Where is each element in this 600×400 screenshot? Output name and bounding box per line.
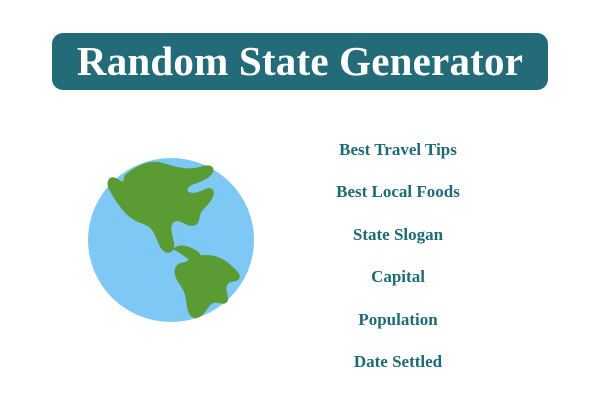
list-item-date-settled[interactable]: Date Settled <box>354 341 442 384</box>
globe-graphic <box>87 157 255 323</box>
list-item-capital[interactable]: Capital <box>371 256 425 299</box>
list-item-best-local-foods[interactable]: Best Local Foods <box>336 171 460 214</box>
list-item-state-slogan[interactable]: State Slogan <box>353 213 443 256</box>
field-list: Best Travel Tips Best Local Foods State … <box>288 128 508 383</box>
globe-icon <box>87 157 255 323</box>
list-item-population[interactable]: Population <box>358 298 437 341</box>
page-title: Random State Generator <box>77 41 523 82</box>
random-state-generator-page: Random State Generator Best Travel Tips … <box>0 0 600 400</box>
list-item-best-travel-tips[interactable]: Best Travel Tips <box>339 128 457 171</box>
title-banner: Random State Generator <box>52 33 548 90</box>
